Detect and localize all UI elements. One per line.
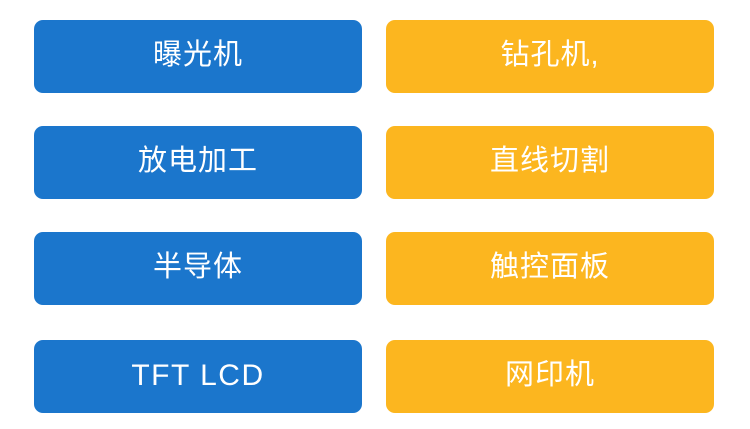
tag-button-label: 直线切割 [490, 147, 610, 176]
tag-button-label: 放电加工 [138, 147, 258, 176]
tag-button-wire-cutting[interactable]: 直线切割 [386, 126, 714, 199]
tag-button-label: 网印机 [505, 361, 595, 390]
tag-button-tft-lcd[interactable]: TFT LCD [34, 340, 362, 413]
tag-button-semiconductor[interactable]: 半导体 [34, 232, 362, 305]
tag-button-grid: 曝光机 钻孔机, 放电加工 直线切割 半导体 触控面板 TFT LCD 网印机 [0, 0, 750, 429]
tag-button-edm-machining[interactable]: 放电加工 [34, 126, 362, 199]
tag-button-screen-printing-machine[interactable]: 网印机 [386, 340, 714, 413]
tag-button-touch-panel[interactable]: 触控面板 [386, 232, 714, 305]
tag-button-label: 触控面板 [490, 253, 610, 282]
tag-button-label: 钻孔机, [500, 41, 599, 70]
tag-button-label: TFT LCD [131, 361, 264, 391]
tag-button-drilling-machine[interactable]: 钻孔机, [386, 20, 714, 93]
tag-button-label: 曝光机 [153, 41, 243, 70]
tag-button-exposure-machine[interactable]: 曝光机 [34, 20, 362, 93]
tag-button-label: 半导体 [153, 253, 243, 282]
